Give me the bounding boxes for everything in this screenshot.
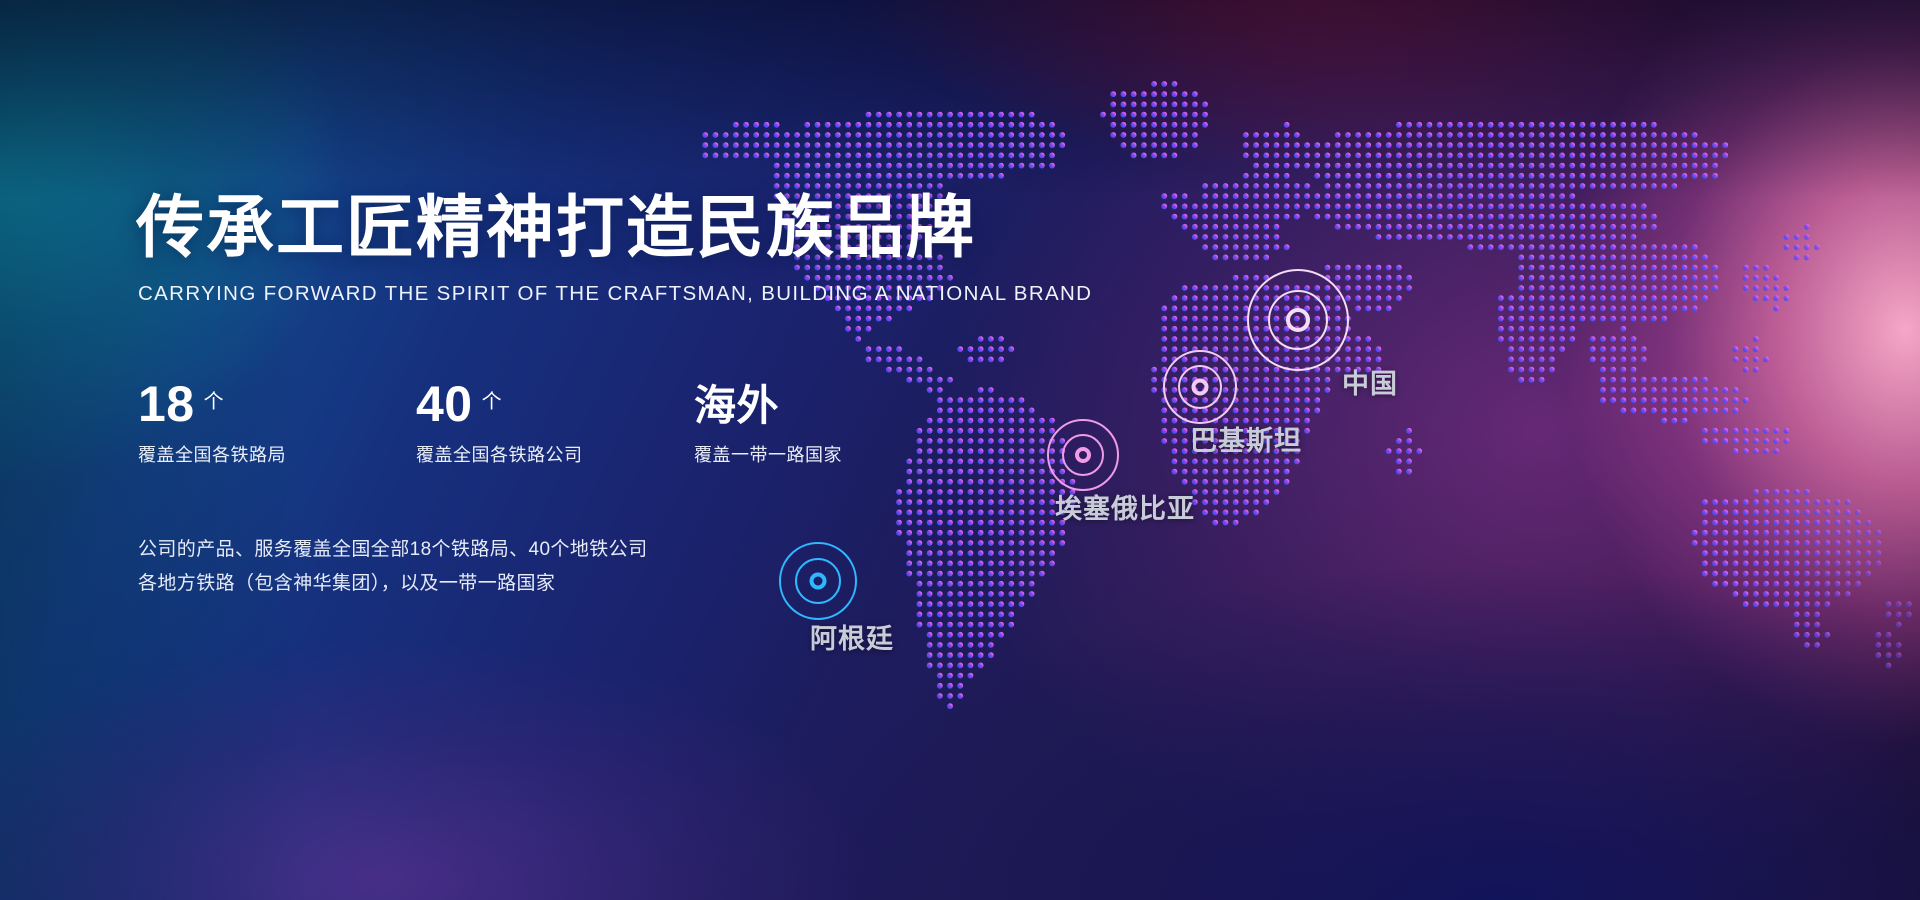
stat-value-group: 40 个 [416,370,694,428]
description-line-1: 公司的产品、服务覆盖全国全部18个铁路局、40个地铁公司 [138,533,1136,567]
stat-item-overseas: 海外 覆盖一带一路国家 [694,370,842,467]
stat-number: 海外 [694,385,779,428]
map-marker-label-pakistan: 巴基斯坦 [1190,419,1302,458]
stat-description: 覆盖全国各铁路公司 [416,441,694,467]
stat-description: 覆盖全国各铁路局 [138,441,416,467]
subheadline: CARRYING FORWARD THE SPIRIT OF THE CRAFT… [138,282,1136,306]
stat-item-railway-companies: 40 个 覆盖全国各铁路公司 [416,370,694,467]
promo-banner: 中国 巴基斯坦 埃塞俄比亚 阿根廷 传承工匠精神打造民族品牌 CARRYING … [0,0,1920,900]
map-marker-label-china: 中国 [1342,362,1398,401]
description-paragraph: 公司的产品、服务覆盖全国全部18个铁路局、40个地铁公司 各地方铁路（包含神华集… [138,533,1136,601]
description-line-2: 各地方铁路（包含神华集团），以及一带一路国家 [138,567,1136,601]
stat-number: 40 [416,380,473,428]
marker-ring-inner [1192,379,1209,396]
map-marker-label-argentina: 阿根廷 [810,617,894,656]
stats-row: 18 个 覆盖全国各铁路局 40 个 覆盖全国各铁路公司 海外 覆盖一带一路国家 [138,370,1136,467]
banner-content: 传承工匠精神打造民族品牌 CARRYING FORWARD THE SPIRIT… [136,190,1136,601]
marker-ring-inner [1286,308,1310,332]
stat-description: 覆盖一带一路国家 [694,441,842,467]
stat-value-group: 18 个 [138,370,416,428]
stat-unit: 个 [482,392,502,412]
stat-unit: 个 [204,392,224,412]
stat-value-group: 海外 [694,370,842,428]
stat-number: 18 [138,380,195,428]
stat-item-railway-bureaus: 18 个 覆盖全国各铁路局 [138,370,416,467]
headline: 传承工匠精神打造民族品牌 [136,190,1136,266]
